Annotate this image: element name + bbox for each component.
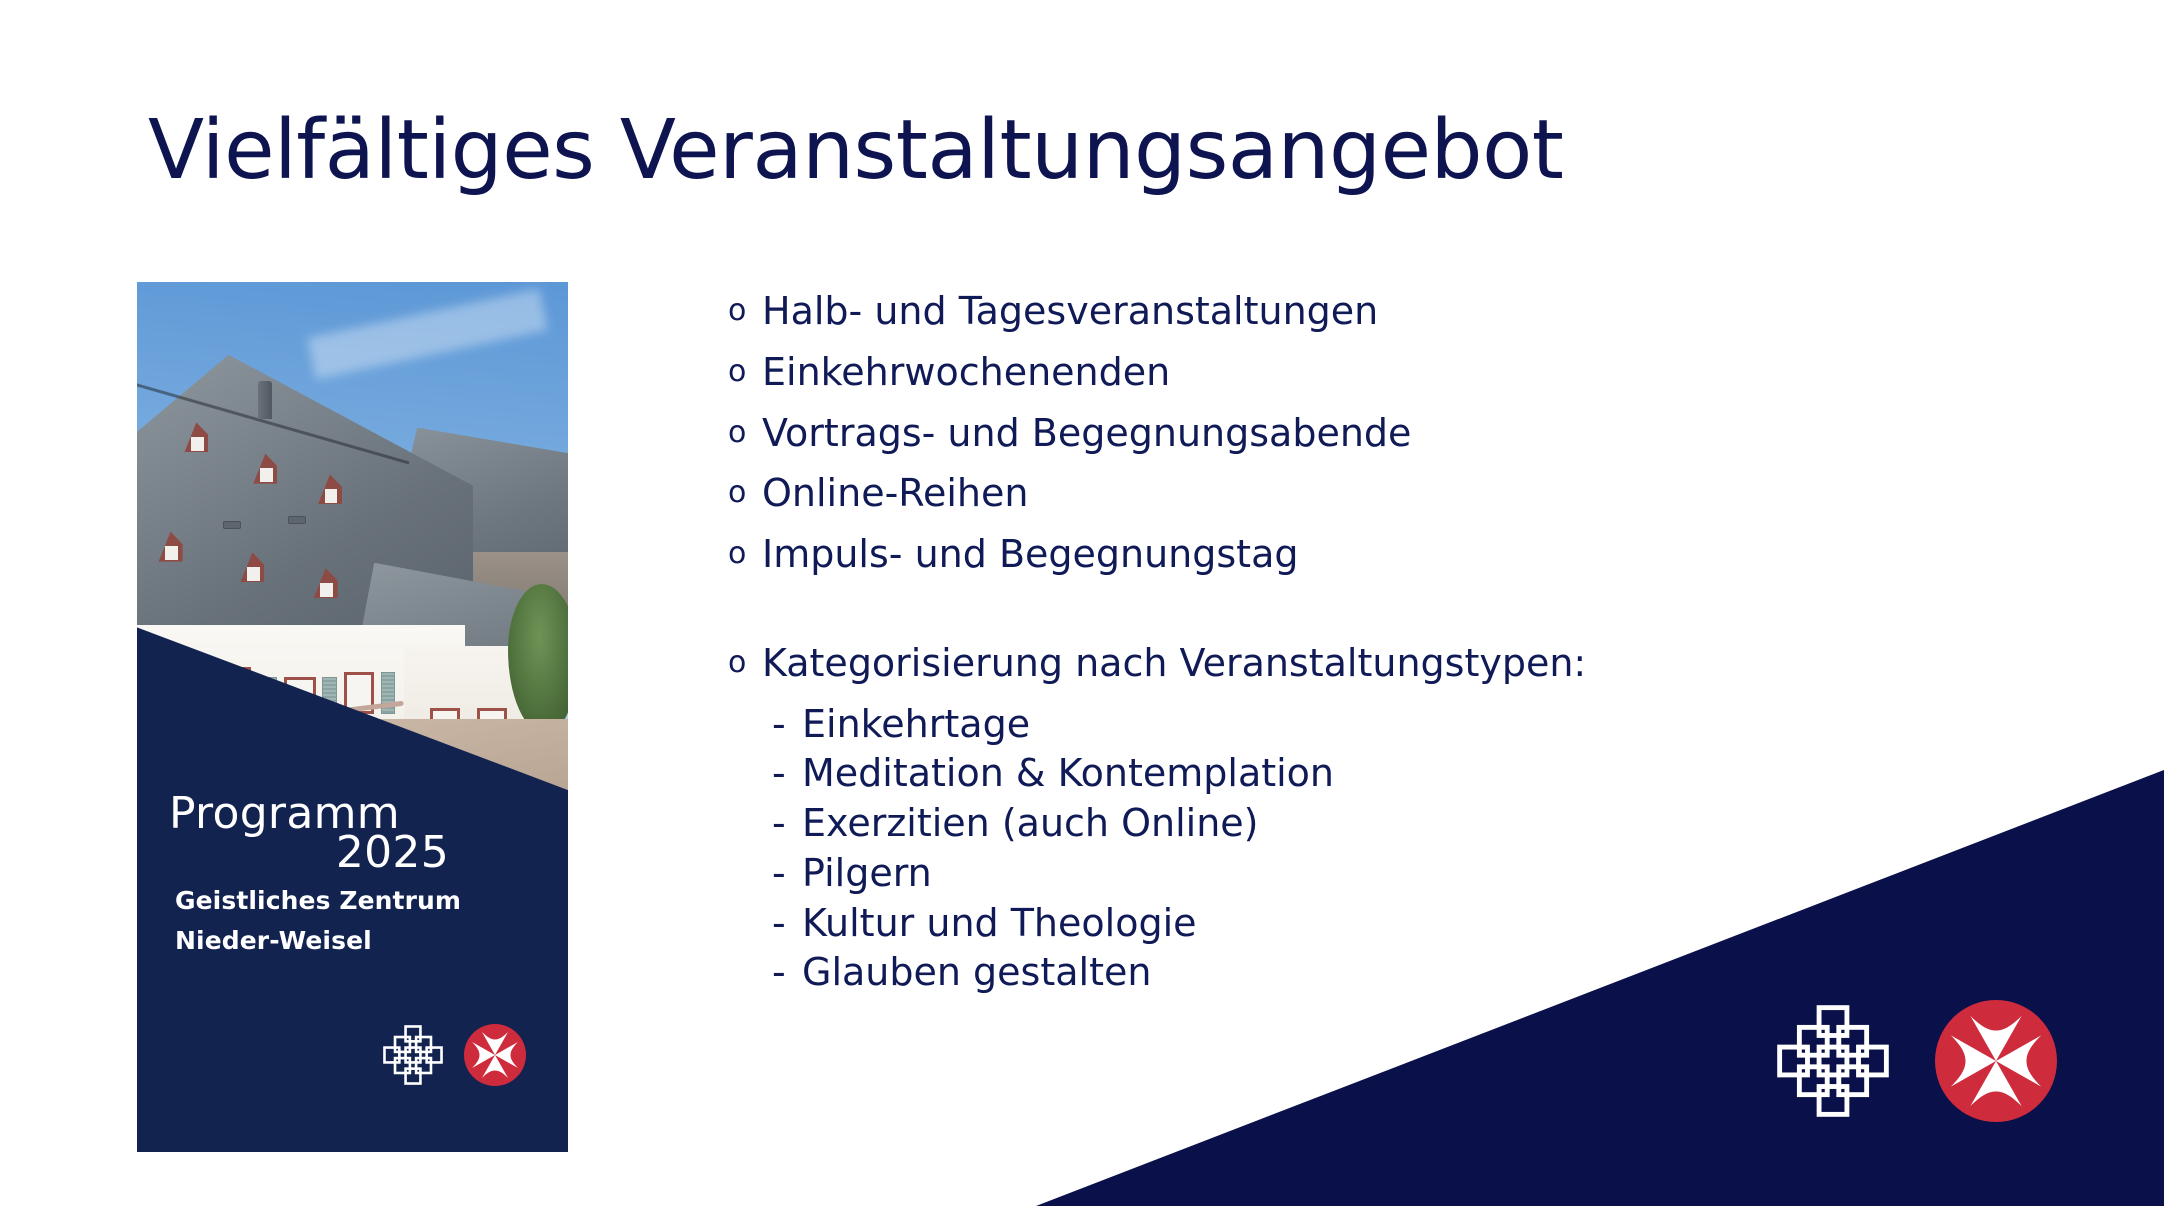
bullet-marker-icon: o [728,535,762,573]
list-item-label: Einkehrwochenenden [762,353,1170,392]
dash-marker-icon: - [772,854,802,892]
list-item: - Meditation & Kontemplation [772,754,1928,793]
dash-marker-icon: - [772,705,802,743]
list-item: o Vortrags- und Begegnungsabende [728,414,1928,453]
list-item: o Kategorisierung nach Veranstaltungstyp… [728,644,1928,683]
list-item-label: Online-Reihen [762,474,1028,513]
dash-marker-icon: - [772,754,802,792]
bullet-marker-icon: o [728,474,762,512]
category-sub-list: - Einkehrtage - Meditation & Kontemplati… [772,705,1928,993]
list-item: o Halb- und Tagesveranstaltungen [728,292,1928,331]
list-item-label: Meditation & Kontemplation [802,754,1334,793]
list-item-label: Glauben gestalten [802,953,1151,992]
content-body: o Halb- und Tagesveranstaltungen o Einke… [728,292,1928,1003]
maltese-cross-icon [464,1024,526,1086]
list-spacer [728,596,1928,644]
bullet-marker-icon: o [728,353,762,391]
list-item-label: Impuls- und Begegnungstag [762,535,1299,574]
list-item-label: Pilgern [802,854,932,893]
interlocking-squares-cross-icon [382,1024,444,1086]
dash-marker-icon: - [772,953,802,991]
brochure-cover-card: Programm 2025 Geistliches Zentrum Nieder… [137,282,568,1152]
list-item: o Impuls- und Begegnungstag [728,535,1928,574]
bullet-marker-icon: o [728,414,762,452]
list-item-label: Kultur und Theologie [802,904,1197,943]
dash-marker-icon: - [772,904,802,942]
bullet-marker-icon: o [728,644,762,682]
list-item: o Online-Reihen [728,474,1928,513]
list-item: o Einkehrwochenenden [728,353,1928,392]
maltese-cross-icon [1935,1000,2057,1122]
slide: Vielfältiges Veranstaltungsangebot o Hal… [0,0,2164,1206]
corner-logo-group [1775,1000,2057,1122]
organisation-line-2: Nieder-Weisel [175,928,515,953]
programm-title-block: Programm 2025 [169,792,449,873]
list-item: - Kultur und Theologie [772,904,1928,943]
list-item-label: Halb- und Tagesveranstaltungen [762,292,1378,331]
brochure-text-layer: Programm 2025 Geistliches Zentrum Nieder… [137,282,568,1152]
list-item: - Pilgern [772,854,1928,893]
list-item: - Glauben gestalten [772,953,1928,992]
brochure-logo-group [382,1024,526,1086]
list-item: - Exerzitien (auch Online) [772,804,1928,843]
list-item-label: Exerzitien (auch Online) [802,804,1258,843]
page-title: Vielfältiges Veranstaltungsangebot [148,110,2048,192]
list-item: - Einkehrtage [772,705,1928,744]
category-bullet-list: o Kategorisierung nach Veranstaltungstyp… [728,644,1928,992]
interlocking-squares-cross-icon [1775,1003,1891,1119]
category-heading-label: Kategorisierung nach Veranstaltungstypen… [762,644,1586,683]
bullet-marker-icon: o [728,292,762,330]
organisation-line-1: Geistliches Zentrum [175,888,515,913]
primary-bullet-list: o Halb- und Tagesveranstaltungen o Einke… [728,292,1928,574]
list-item-label: Vortrags- und Begegnungsabende [762,414,1411,453]
dash-marker-icon: - [772,804,802,842]
list-item-label: Einkehrtage [802,705,1030,744]
